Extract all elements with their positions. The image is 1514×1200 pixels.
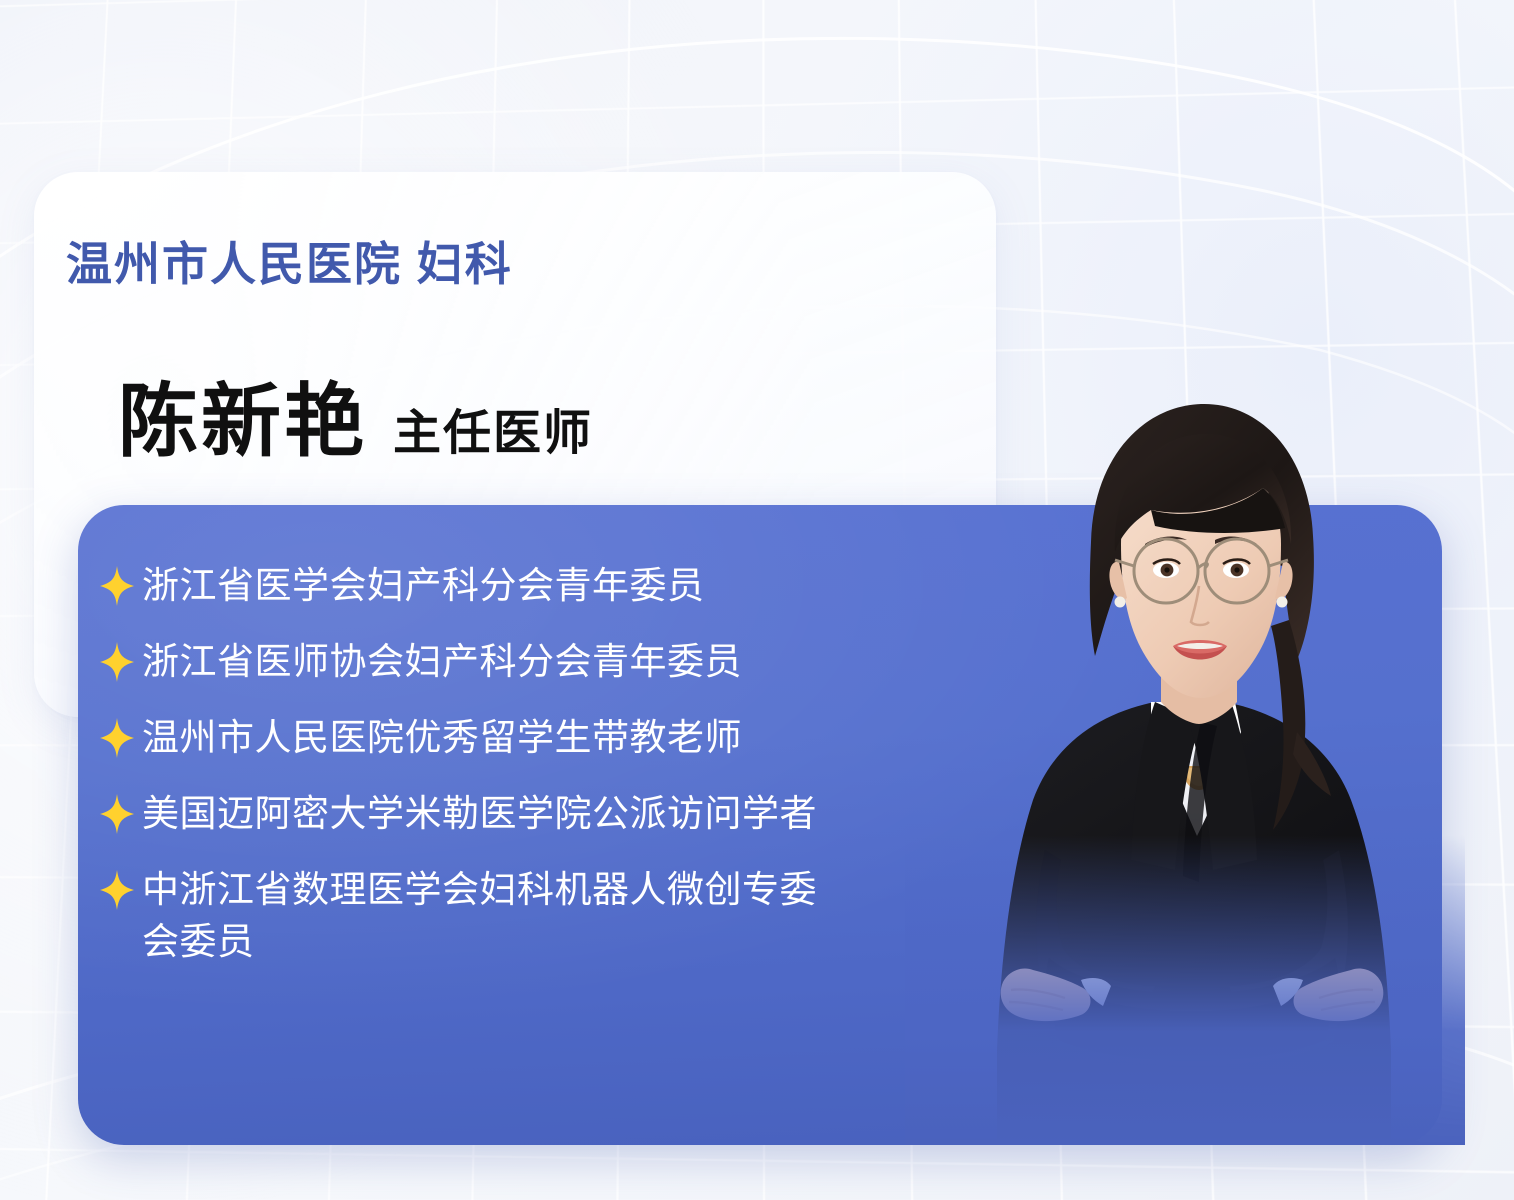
doctor-profile-card: 温州市人民医院 妇科 陈新艳 主任医师 浙江省医学会妇产科分会青年委员 浙江省医… <box>0 0 1514 1200</box>
list-item: 温州市人民医院优秀留学生带教老师 <box>100 712 1000 764</box>
credential-text: 浙江省医学会妇产科分会青年委员 <box>142 560 705 612</box>
credential-text: 浙江省医师协会妇产科分会青年委员 <box>142 636 742 688</box>
credential-text: 温州市人民医院优秀留学生带教老师 <box>142 712 742 764</box>
doctor-identity: 陈新艳 主任医师 <box>118 382 593 462</box>
hospital-department-title: 温州市人民医院 妇科 <box>66 228 513 294</box>
list-item: 美国迈阿密大学米勒医学院公派访问学者 <box>100 788 1000 840</box>
sparkle-icon <box>100 794 134 834</box>
sparkle-icon <box>100 718 134 758</box>
list-item: 浙江省医师协会妇产科分会青年委员 <box>100 636 1000 688</box>
list-item: 中浙江省数理医学会妇科机器人微创专委 会委员 <box>100 864 1000 968</box>
list-item: 浙江省医学会妇产科分会青年委员 <box>100 560 1000 612</box>
credential-text: 美国迈阿密大学米勒医学院公派访问学者 <box>142 788 817 840</box>
credential-text-multiline: 中浙江省数理医学会妇科机器人微创专委 会委员 <box>142 864 817 968</box>
sparkle-icon <box>100 870 134 910</box>
doctor-title: 主任医师 <box>393 410 593 458</box>
sparkle-icon <box>100 566 134 606</box>
credential-text-line-1: 中浙江省数理医学会妇科机器人微创专委 <box>142 864 817 916</box>
doctor-name: 陈新艳 <box>118 382 367 462</box>
sparkle-icon <box>100 642 134 682</box>
credentials-list: 浙江省医学会妇产科分会青年委员 浙江省医师协会妇产科分会青年委员 温州市人民医院… <box>100 560 1000 968</box>
credential-text-line-2: 会委员 <box>142 916 817 968</box>
